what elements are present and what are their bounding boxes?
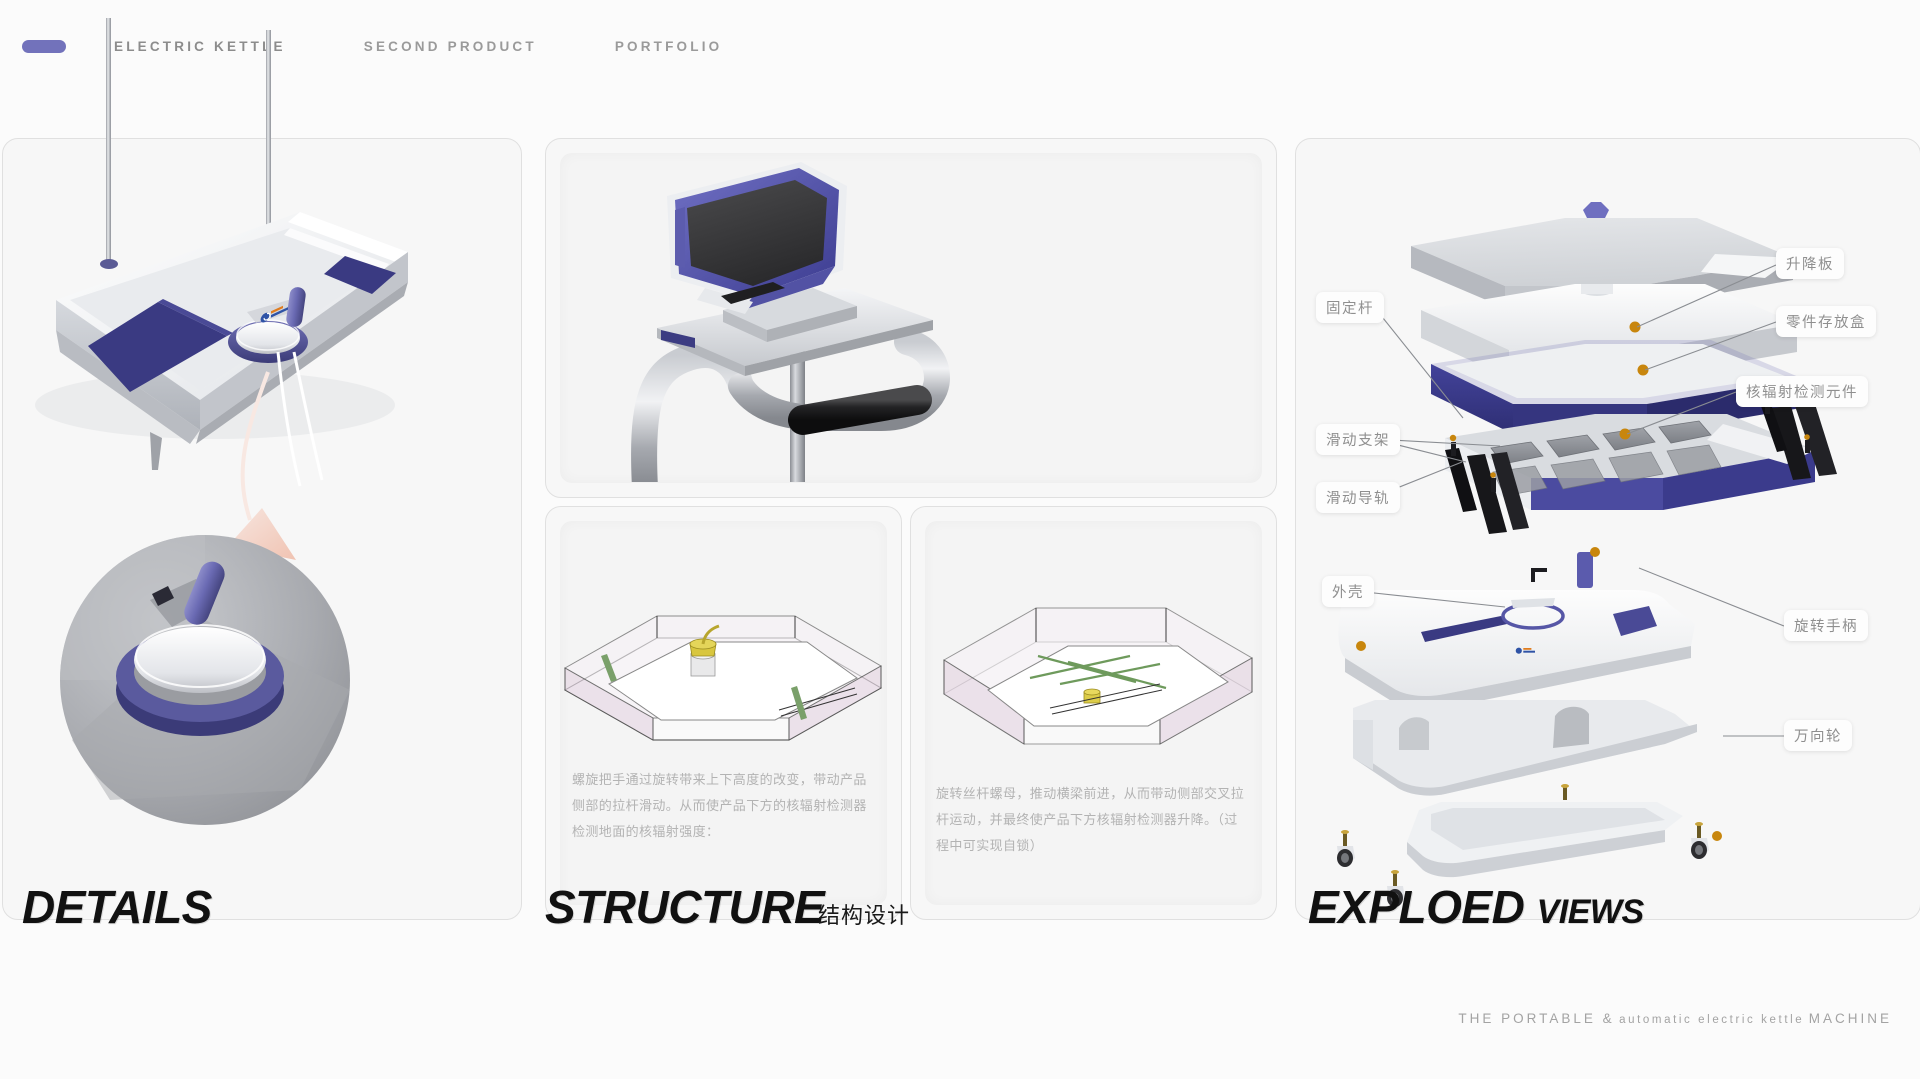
section-title-details: DETAILS [22, 880, 212, 934]
exploded-label-caster-wheel[interactable]: 万向轮 [1784, 720, 1852, 751]
nav-item-electric-kettle[interactable]: ELECTRIC KETTLE [114, 39, 286, 54]
exploded-label-fixed-rod[interactable]: 固定杆 [1316, 292, 1384, 323]
footer-part-1: THE PORTABLE & [1458, 1011, 1614, 1026]
footer-tagline: THE PORTABLE & automatic electric kettle… [1458, 1010, 1892, 1028]
structure-b1-inner-card [560, 521, 887, 905]
exploded-label-sliding-rail[interactable]: 滑动导轨 [1316, 482, 1400, 513]
structure-description-1: 螺旋把手通过旋转带来上下高度的改变，带动产品侧部的拉杆滑动。从而使产品下方的核辐… [572, 768, 872, 846]
exploded-label-sliding-bracket[interactable]: 滑动支架 [1316, 424, 1400, 455]
exploded-label-parts-box[interactable]: 零件存放盒 [1776, 306, 1876, 337]
exploded-title-small: VIEWS [1537, 893, 1644, 931]
structure-description-2: 旋转丝杆螺母，推动横梁前进，从而带动侧部交叉拉杆运动，并最终使产品下方核辐射检测… [936, 782, 1246, 860]
structure-top-inner-card [560, 153, 1262, 483]
exploded-label-lift-plate[interactable]: 升降板 [1776, 248, 1844, 279]
footer-part-3: MACHINE [1809, 1011, 1892, 1026]
section-title-exploded: EXPLOED VIEWS [1308, 880, 1644, 934]
logo-pill-icon[interactable] [22, 40, 66, 53]
panel-details [2, 138, 522, 920]
panel-structure-diagram-1 [545, 506, 902, 920]
nav-item-portfolio[interactable]: PORTFOLIO [615, 39, 723, 54]
exploded-label-rotary-handle[interactable]: 旋转手柄 [1784, 610, 1868, 641]
exploded-label-housing[interactable]: 外壳 [1322, 576, 1374, 607]
top-navigation-bar: ELECTRIC KETTLE SECOND PRODUCT PORTFOLIO [0, 0, 1920, 92]
section-title-structure: STRUCTURE [545, 880, 824, 934]
nav-item-second-product[interactable]: SECOND PRODUCT [364, 39, 537, 54]
exploded-title-main: EXPLOED [1308, 881, 1524, 933]
exploded-label-radiation-sensor[interactable]: 核辐射检测元件 [1736, 376, 1868, 407]
footer-part-2: automatic electric kettle [1619, 1014, 1804, 1026]
panel-structure-top [545, 138, 1277, 498]
section-subtitle-structure: 结构设计 [818, 898, 910, 930]
